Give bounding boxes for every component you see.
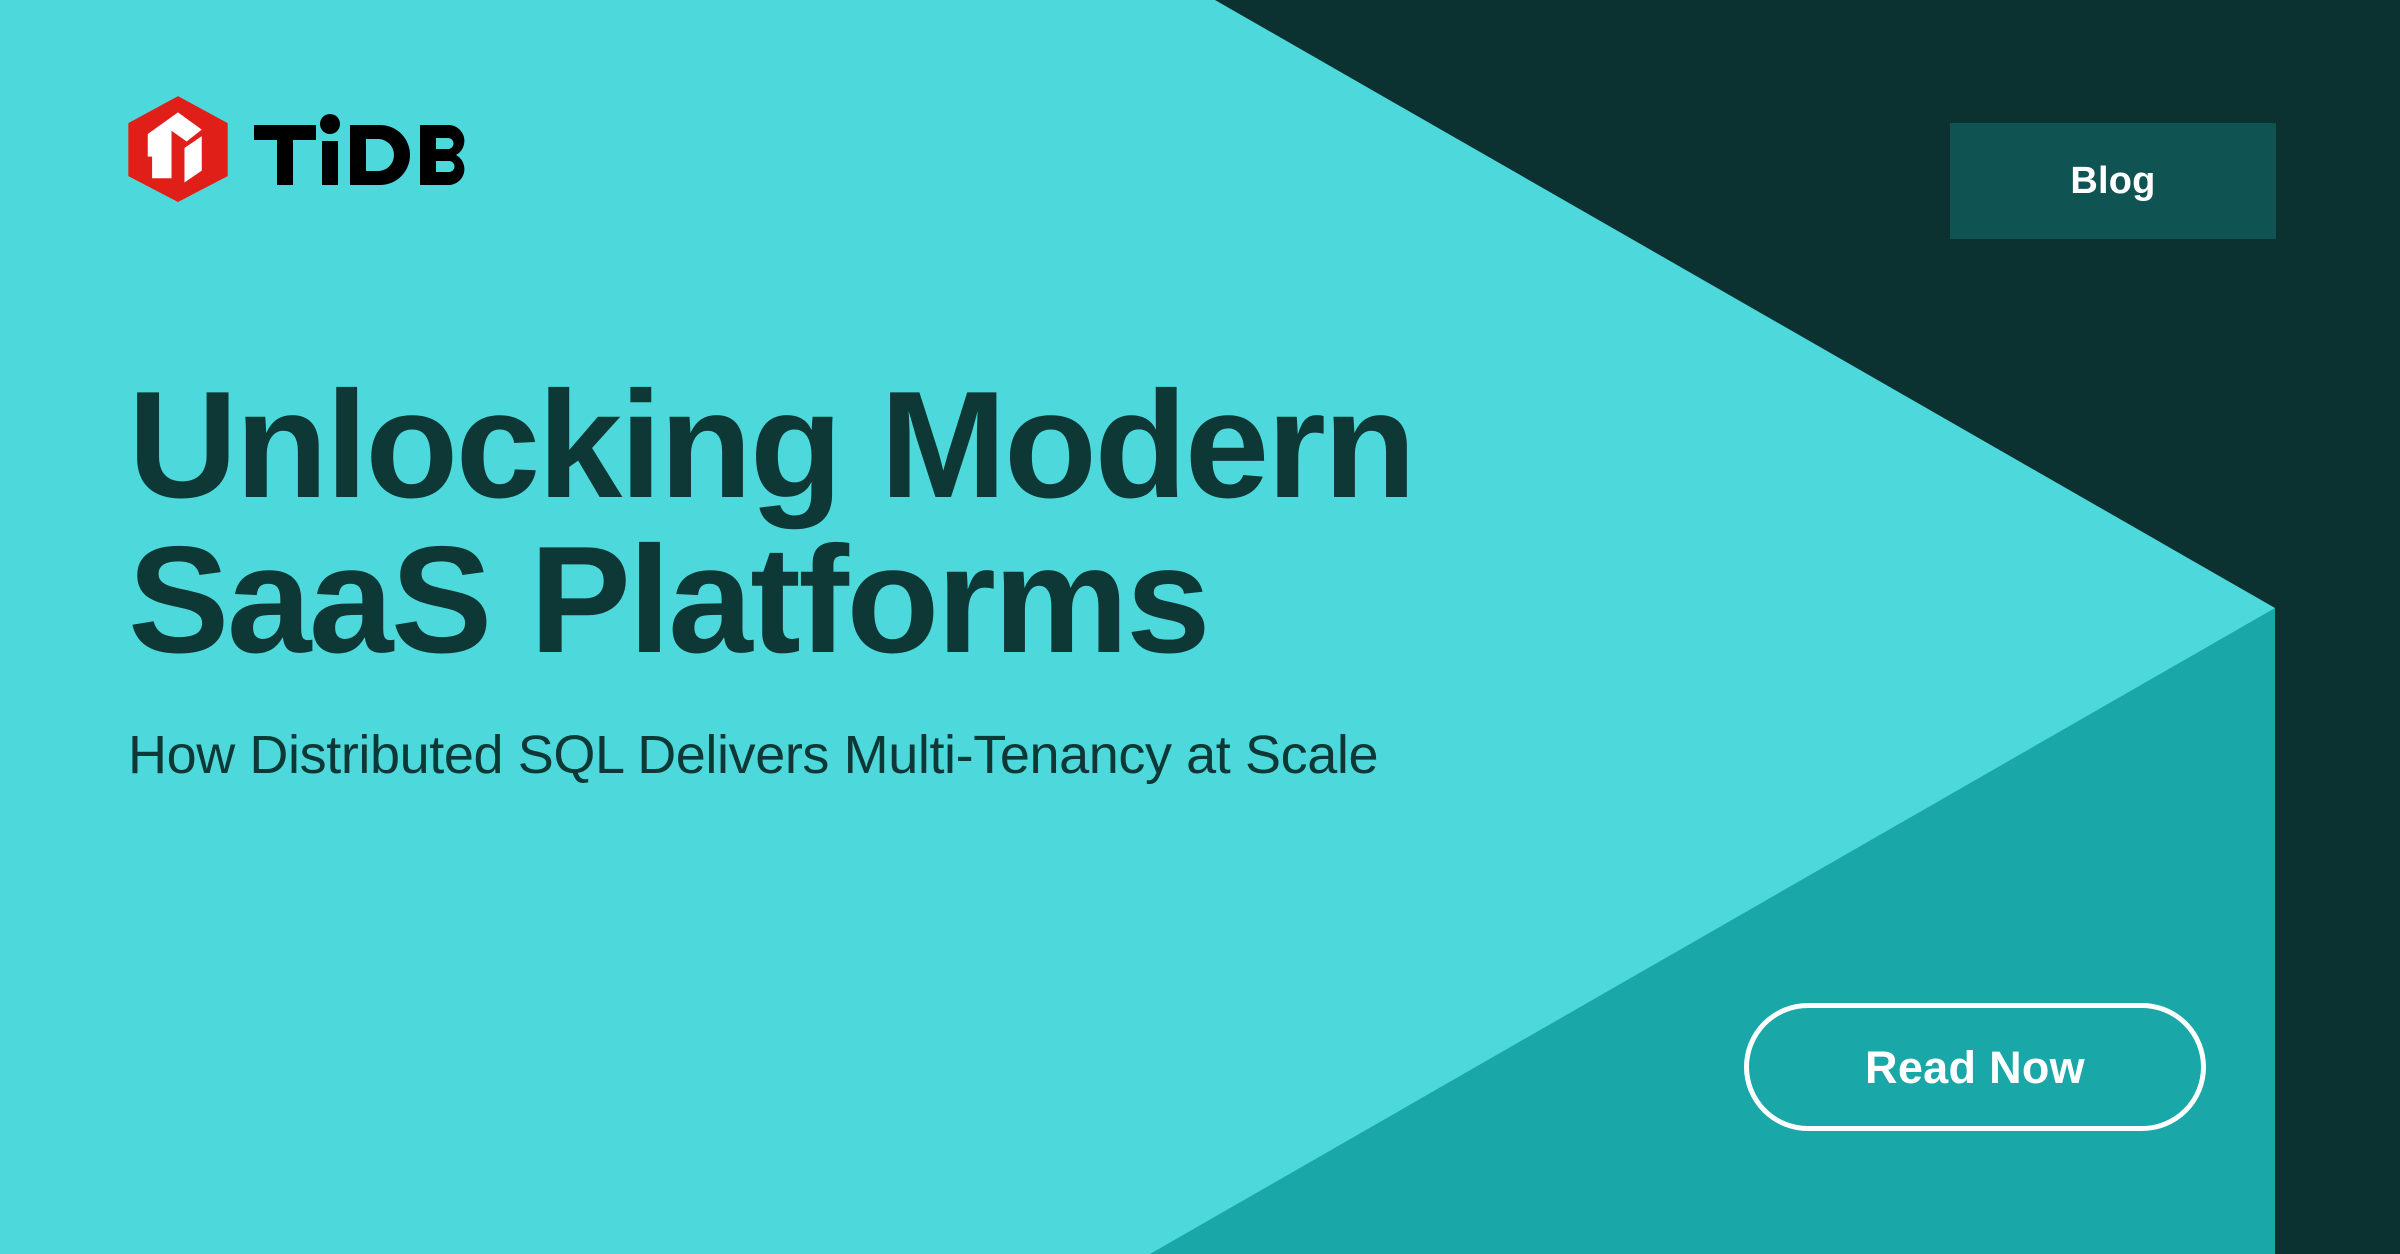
blog-badge[interactable]: Blog — [1950, 123, 2276, 239]
headline-line-1: Unlocking Modern — [128, 368, 1888, 523]
headline-line-2: SaaS Platforms — [128, 523, 1888, 678]
read-now-button[interactable]: Read Now — [1744, 1003, 2206, 1131]
promo-banner: Blog Unlocking Modern SaaS Platforms How… — [0, 0, 2400, 1254]
read-now-label: Read Now — [1865, 1045, 2085, 1090]
copy-block: Unlocking Modern SaaS Platforms How Dist… — [128, 368, 1888, 786]
tidb-wordmark — [254, 111, 484, 185]
tidb-hexagon-logo-icon — [124, 94, 232, 202]
tidb-logo-lockup[interactable] — [124, 94, 484, 202]
blog-badge-label: Blog — [2070, 162, 2155, 200]
subheadline: How Distributed SQL Delivers Multi-Tenan… — [128, 724, 1888, 786]
